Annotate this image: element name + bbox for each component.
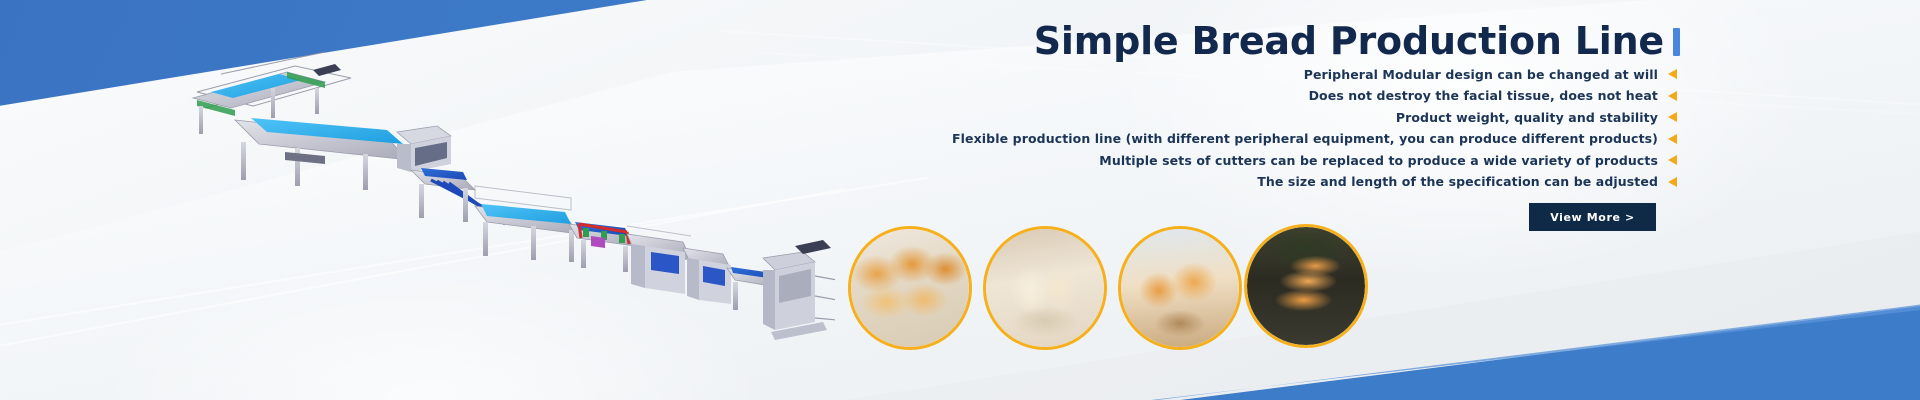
croissant-pastry-image <box>1121 229 1239 347</box>
feature-list-item: Product weight, quality and stability <box>557 107 1677 127</box>
feature-text: Product weight, quality and stability <box>1396 110 1658 125</box>
product-thumbnail-row <box>848 226 1858 398</box>
page-title: Simple Bread Production Line <box>1034 19 1664 63</box>
cursor-accent-bar <box>1673 28 1680 56</box>
sesame-bread-rolls-image <box>851 229 969 347</box>
feature-list-item: Peripheral Modular design can be changed… <box>557 64 1677 84</box>
feature-text: Flexible production line (with different… <box>952 131 1658 146</box>
feature-text: The size and length of the specification… <box>1257 174 1658 189</box>
product-thumbnail-croissant-pastry[interactable] <box>1118 226 1242 350</box>
arrow-left-icon <box>1668 155 1677 165</box>
arrow-left-icon <box>1668 177 1677 187</box>
machine-proofer-cabinets <box>627 234 731 304</box>
feature-list-item: Does not destroy the facial tissue, does… <box>557 86 1677 106</box>
feature-list-item: Multiple sets of cutters can be replaced… <box>557 150 1677 170</box>
feature-text: Multiple sets of cutters can be replaced… <box>1099 153 1658 168</box>
machine-control-cabinet <box>397 126 451 172</box>
machine-elevator-tower <box>763 240 835 340</box>
feature-list: Peripheral Modular design can be changed… <box>557 64 1677 193</box>
promo-banner: Simple Bread Production Line Peripheral … <box>0 0 1920 400</box>
product-thumbnail-sliced-toast-bread[interactable] <box>983 226 1107 350</box>
machine-cutter-unit <box>569 222 635 272</box>
banner-headline: Simple Bread Production Line <box>760 18 1680 64</box>
machine-main-conveyor-1 <box>235 118 409 190</box>
feature-list-item: Flexible production line (with different… <box>557 129 1677 149</box>
bread-sticks-image <box>1247 227 1365 345</box>
feature-list-item: The size and length of the specification… <box>557 172 1677 192</box>
feature-text: Does not destroy the facial tissue, does… <box>1309 88 1658 103</box>
product-thumbnail-bread-sticks[interactable] <box>1244 224 1368 348</box>
sliced-toast-bread-image <box>986 229 1104 347</box>
arrow-left-icon <box>1668 91 1677 101</box>
arrow-left-icon <box>1668 134 1677 144</box>
arrow-left-icon <box>1668 112 1677 122</box>
product-thumbnail-sesame-bread-rolls[interactable] <box>848 226 972 350</box>
view-more-label: View More > <box>1550 211 1635 224</box>
arrow-left-icon <box>1668 69 1677 79</box>
feature-text: Peripheral Modular design can be changed… <box>1304 67 1658 82</box>
machine-wide-belt <box>475 204 579 262</box>
